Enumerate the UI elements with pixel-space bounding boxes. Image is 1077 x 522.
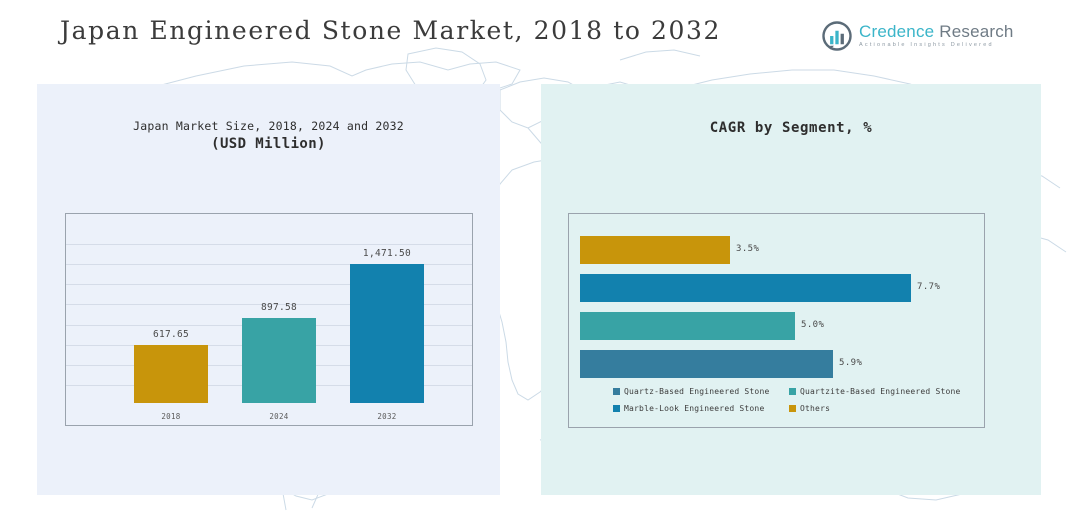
cagr-bar-chart: 3.5%7.7%5.0%5.9% Quartz-Based Engineered… <box>568 213 985 428</box>
column-category-label: 2032 <box>332 412 442 421</box>
column-value-label: 1,471.50 <box>332 248 442 259</box>
right-chart-title: CAGR by Segment, % <box>541 120 1041 136</box>
horizontal-bar[interactable] <box>580 312 795 340</box>
legend-label: Others <box>800 404 830 413</box>
gridline <box>66 244 472 245</box>
left-chart-title: Japan Market Size, 2018, 2024 and 2032 <box>37 119 500 133</box>
cagr-legend: Quartz-Based Engineered StoneQuartzite-B… <box>613 385 965 419</box>
page-title: Japan Engineered Stone Market, 2018 to 2… <box>60 16 721 45</box>
legend-item[interactable]: Marble-Look Engineered Stone <box>613 402 789 415</box>
bar-value-label: 5.0% <box>801 320 824 330</box>
legend-swatch <box>789 405 796 412</box>
brand-text: Credence Research Actionable Insights De… <box>859 23 1014 49</box>
column-group: 617.652018 <box>134 345 208 403</box>
legend-label: Marble-Look Engineered Stone <box>624 404 764 413</box>
brand-name-primary: Credence <box>859 22 934 41</box>
legend-item[interactable]: Quartzite-Based Engineered Stone <box>789 385 965 398</box>
column-plot-area: 617.652018897.5820241,471.502032 <box>66 214 472 425</box>
bar-value-label: 3.5% <box>736 244 759 254</box>
legend-item[interactable]: Quartz-Based Engineered Stone <box>613 385 789 398</box>
bar-row: 7.7% <box>580 274 1015 302</box>
horizontal-bar[interactable] <box>580 274 911 302</box>
horizontal-bar[interactable] <box>580 350 833 378</box>
market-size-column-chart: 617.652018897.5820241,471.502032 <box>65 213 473 426</box>
infographic-canvas: Japan Engineered Stone Market, 2018 to 2… <box>0 0 1077 522</box>
brand-name: Credence Research <box>859 23 1014 40</box>
column-bar[interactable] <box>350 264 424 403</box>
brand-tagline: Actionable Insights Delivered <box>859 43 1014 49</box>
header: Japan Engineered Stone Market, 2018 to 2… <box>0 0 1077 62</box>
left-chart-subtitle: (USD Million) <box>37 136 500 152</box>
legend-item[interactable]: Others <box>789 402 965 415</box>
legend-swatch <box>789 388 796 395</box>
legend-label: Quartzite-Based Engineered Stone <box>800 387 961 396</box>
bar-value-label: 5.9% <box>839 358 862 368</box>
brand-logo[interactable]: Credence Research Actionable Insights De… <box>822 21 1014 51</box>
column-bar[interactable] <box>134 345 208 403</box>
column-category-label: 2018 <box>116 412 226 421</box>
legend-label: Quartz-Based Engineered Stone <box>624 387 769 396</box>
column-group: 1,471.502032 <box>350 264 424 403</box>
brand-name-secondary: Research <box>934 22 1013 41</box>
column-bar[interactable] <box>242 318 316 403</box>
bar-value-label: 7.7% <box>917 282 940 292</box>
column-group: 897.582024 <box>242 318 316 403</box>
column-value-label: 617.65 <box>116 329 226 340</box>
bar-chart-circle-icon <box>822 21 852 51</box>
column-value-label: 897.58 <box>224 302 334 313</box>
horizontal-bar[interactable] <box>580 236 730 264</box>
column-category-label: 2024 <box>224 412 334 421</box>
legend-swatch <box>613 405 620 412</box>
bar-row: 5.0% <box>580 312 1015 340</box>
legend-swatch <box>613 388 620 395</box>
bar-row: 5.9% <box>580 350 1015 378</box>
bar-row: 3.5% <box>580 236 1015 264</box>
